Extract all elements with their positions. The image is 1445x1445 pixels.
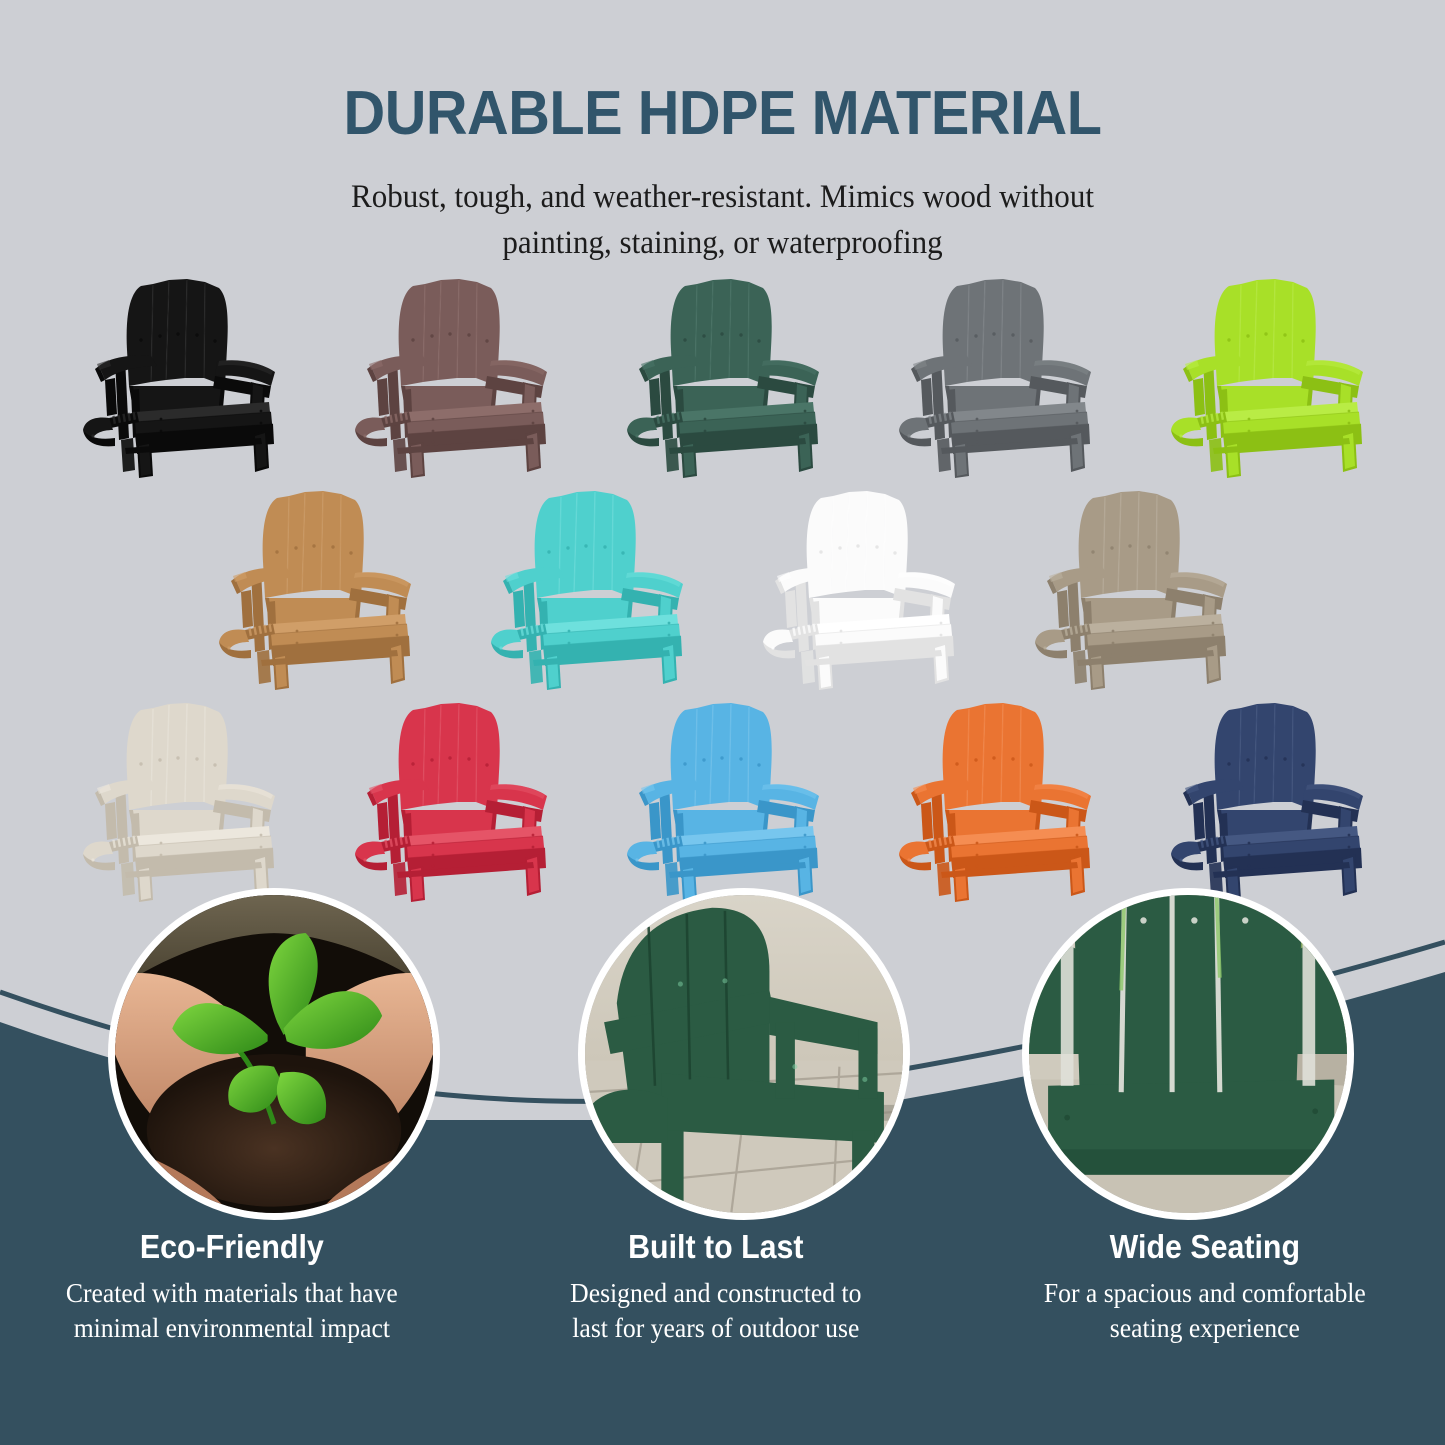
feature-circles [0, 888, 1445, 1208]
subtitle-line-2: painting, staining, or waterproofing [502, 225, 942, 261]
chair-swatch-white[interactable] [745, 474, 973, 696]
header: DURABLE HDPE MATERIAL Robust, tough, and… [0, 0, 1445, 266]
chair-swatch-light-blue[interactable] [609, 686, 837, 908]
feature-desc-line-2: minimal environmental impact [74, 1313, 390, 1343]
chair-swatch-turquoise[interactable] [473, 474, 701, 696]
feature-title: Wide Seating [996, 1228, 1415, 1266]
feature-image-eco-friendly [108, 888, 440, 1220]
feature-built-to-last: Built to Last Designed and constructed t… [476, 1228, 956, 1346]
page-subtitle: Robust, tough, and weather-resistant. Mi… [43, 149, 1401, 266]
chair-swatch-lime-green[interactable] [1153, 262, 1381, 484]
feature-list: Eco-Friendly Created with materials that… [0, 1228, 1445, 1346]
chair-swatch-red[interactable] [337, 686, 565, 908]
chair-swatch-teak[interactable] [201, 474, 429, 696]
chair-swatch-brown[interactable] [337, 262, 565, 484]
chair-color-grid [0, 262, 1445, 908]
feature-title: Built to Last [506, 1228, 925, 1266]
chair-swatch-black[interactable] [65, 262, 293, 484]
feature-wide-seating: Wide Seating For a spacious and comforta… [965, 1228, 1445, 1346]
page-title: DURABLE HDPE MATERIAL [51, 0, 1395, 149]
feature-desc-line-1: Created with materials that have [66, 1278, 398, 1308]
chair-swatch-orange[interactable] [881, 686, 1109, 908]
infographic-stage: DURABLE HDPE MATERIAL Robust, tough, and… [0, 0, 1445, 1445]
chair-swatch-dark-green[interactable] [609, 262, 837, 484]
chair-row-2 [0, 474, 1445, 696]
feature-description: Designed and constructed to last for yea… [499, 1276, 932, 1346]
subtitle-line-1: Robust, tough, and weather-resistant. Mi… [351, 179, 1094, 215]
feature-eco-friendly: Eco-Friendly Created with materials that… [0, 1228, 472, 1346]
chair-row-3 [0, 686, 1445, 908]
feature-description: Created with materials that have minimal… [15, 1276, 448, 1346]
feature-description: For a spacious and comfortable seating e… [989, 1276, 1422, 1346]
feature-desc-line-1: For a spacious and comfortable [1044, 1278, 1366, 1308]
feature-image-built-to-last [578, 888, 910, 1220]
feature-desc-line-2: last for years of outdoor use [572, 1313, 859, 1343]
chair-swatch-weathered-wood[interactable] [1017, 474, 1245, 696]
feature-desc-line-2: seating experience [1110, 1313, 1300, 1343]
chair-swatch-ivory[interactable] [65, 686, 293, 908]
feature-desc-line-1: Designed and constructed to [570, 1278, 861, 1308]
chair-swatch-navy-blue[interactable] [1153, 686, 1381, 908]
chair-swatch-gray[interactable] [881, 262, 1109, 484]
feature-title: Eco-Friendly [22, 1228, 441, 1266]
chair-row-1 [0, 262, 1445, 484]
feature-image-wide-seating [1022, 888, 1354, 1220]
